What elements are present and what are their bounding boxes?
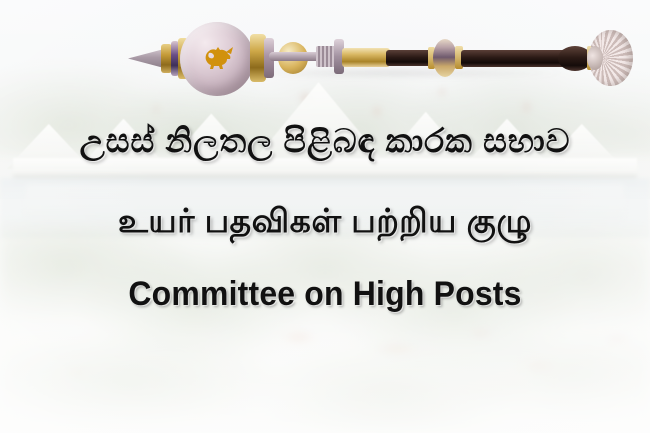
lion-emblem-icon [200, 40, 236, 74]
mace-endcap-core [587, 46, 603, 70]
committee-banner: උසස් නිලතල පිළිබඳ කාරක සභාව உயர் பதவிகள்… [0, 0, 650, 433]
title-sinhala: උසස් නිලතල පිළිබඳ කාරක සභාව [0, 118, 650, 164]
mace-finial-tip [128, 49, 164, 68]
mace-coronet-rim [269, 52, 321, 61]
mace-ornate-bead [433, 39, 457, 77]
title-tamil: உயர் பதவிகள் பற்றிய குழு [0, 198, 650, 244]
mace-shaft-segment [461, 50, 569, 67]
title-block: උසස් නිලතල පිළිබඳ කාරක සභාව உயர் பதவிகள்… [0, 118, 650, 316]
title-english: Committee on High Posts [20, 272, 631, 316]
mace-shaft-segment [386, 50, 432, 66]
mace-gold-grip [342, 48, 390, 67]
ceremonial-mace-icon [128, 8, 526, 104]
